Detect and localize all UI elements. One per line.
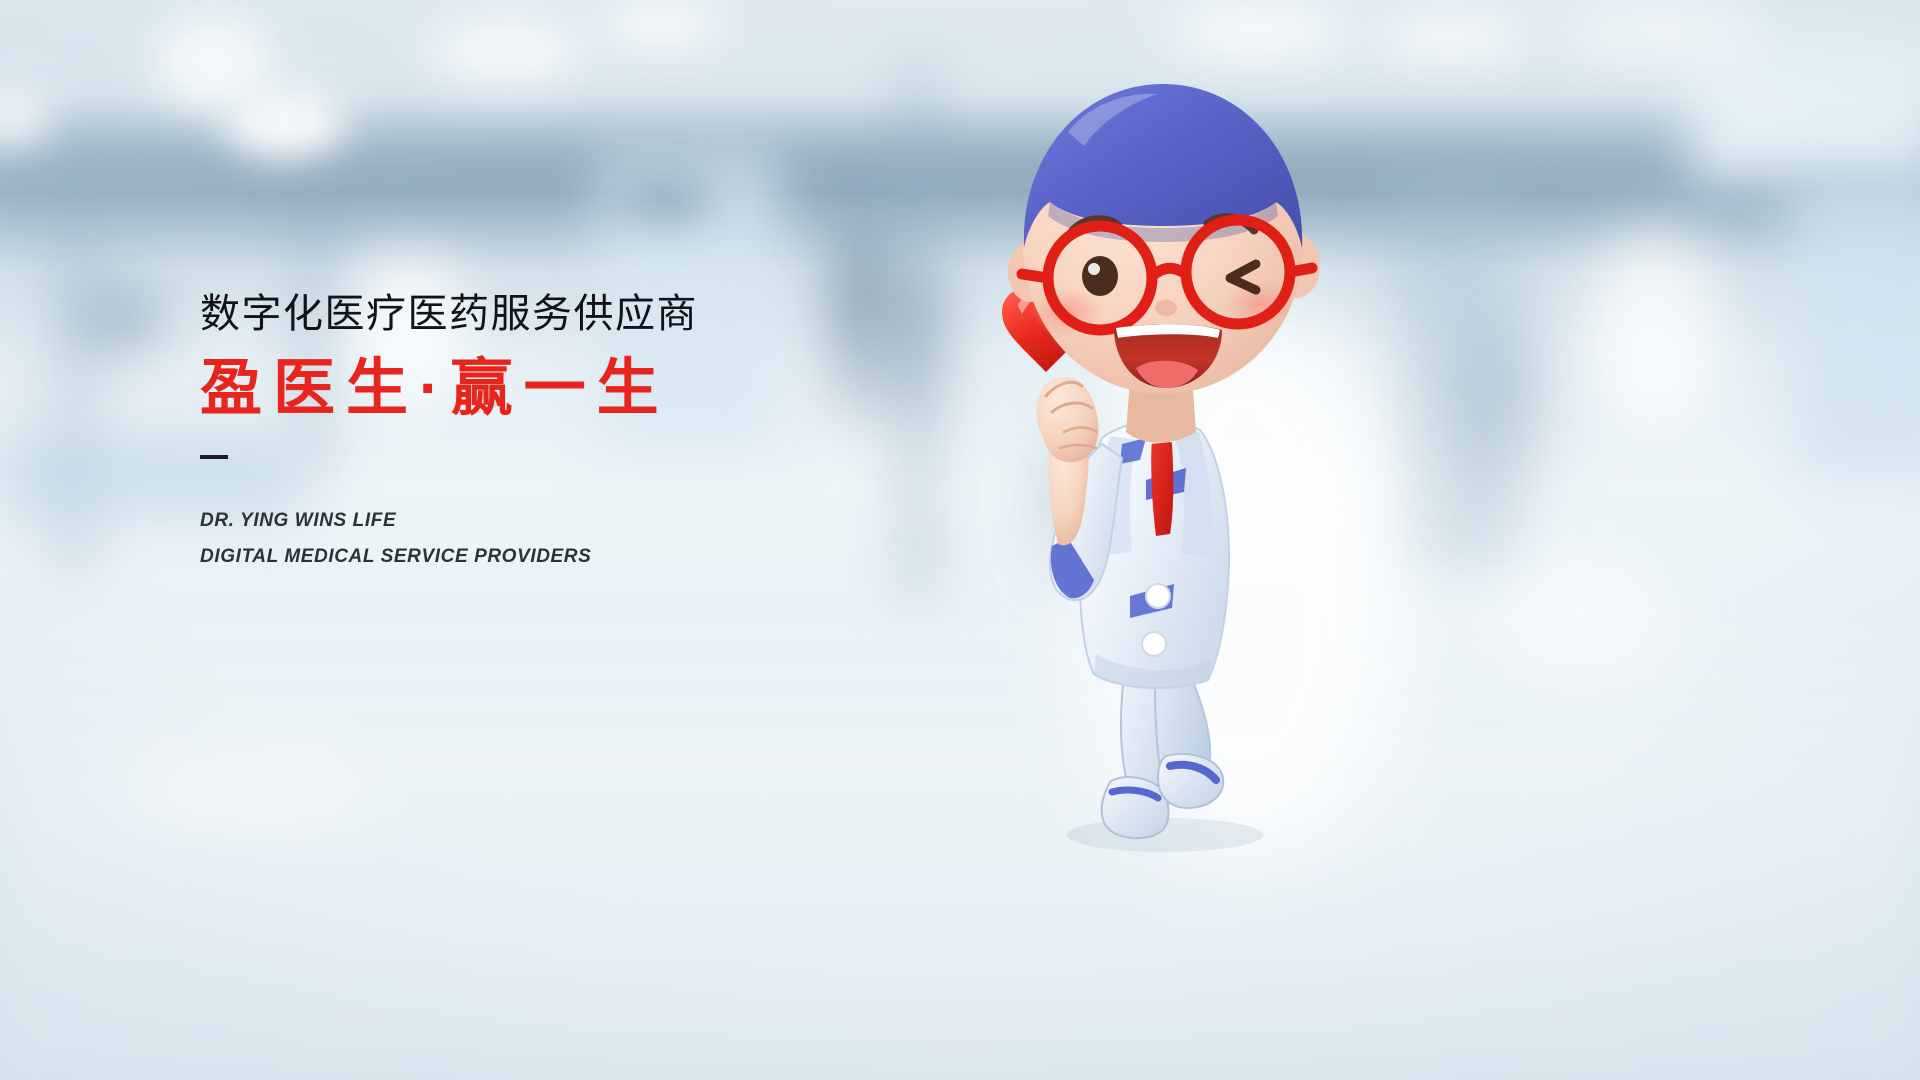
glasses-temple-right	[1290, 268, 1312, 272]
nose	[1155, 300, 1177, 316]
coat-button-lower	[1142, 632, 1166, 656]
hand-finger-heart	[1037, 377, 1099, 463]
divider-rule	[200, 455, 228, 459]
doctor-mascot-illustration	[960, 40, 1380, 860]
eye-highlight	[1088, 263, 1100, 275]
coat-button-upper	[1146, 584, 1170, 608]
hero-banner: 数字化医疗医药服务供应商 盈医生·赢一生 DR. YING WINS LIFE …	[0, 0, 1920, 1080]
eye-open	[1082, 256, 1118, 296]
subtitle-line-1: DR. YING WINS LIFE	[200, 503, 960, 539]
slogan-cn: 盈医生·赢一生	[200, 355, 960, 423]
hero-copy-block: 数字化医疗医药服务供应商 盈医生·赢一生 DR. YING WINS LIFE …	[200, 292, 960, 576]
page-title-cn: 数字化医疗医药服务供应商	[200, 292, 960, 337]
glasses-temple-left	[1022, 274, 1048, 278]
subtitle-line-2: DIGITAL MEDICAL SERVICE PROVIDERS	[200, 539, 960, 575]
